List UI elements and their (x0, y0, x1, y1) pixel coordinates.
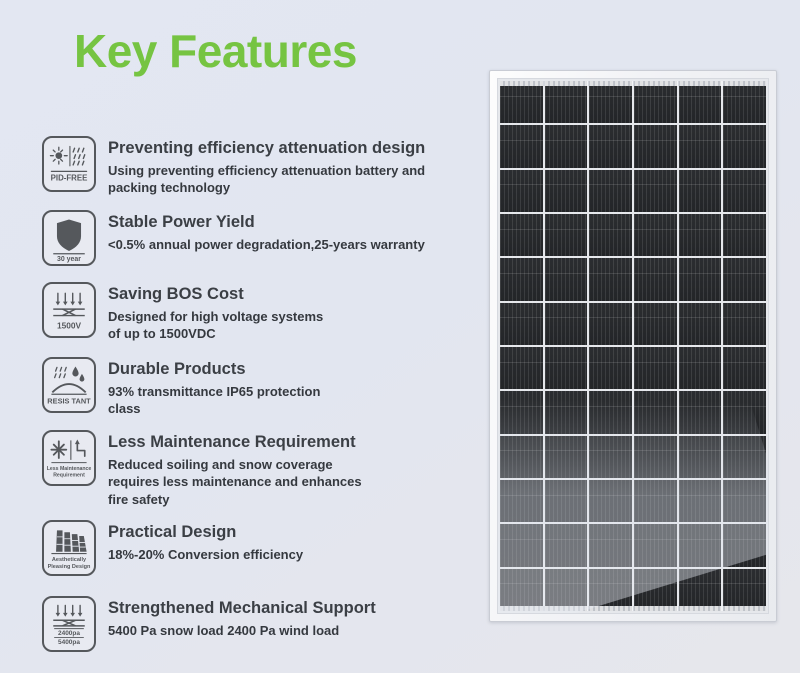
solar-cell (723, 303, 766, 345)
solar-cell (589, 81, 632, 123)
feature-description: 93% transmittance IP65 protection class (108, 383, 320, 418)
solar-cell (679, 480, 722, 522)
feature-title: Strengthened Mechanical Support (108, 598, 376, 619)
feature-description: <0.5% annual power degradation,25-years … (108, 236, 425, 253)
busbar-bottom (500, 606, 766, 611)
solar-cell (679, 170, 722, 212)
solar-cell (545, 569, 588, 611)
solar-cell (679, 569, 722, 611)
shield-30-year-glyph: 30 year (44, 212, 94, 264)
solar-cell (723, 436, 766, 478)
feature-item: Aesthetically Pleasing Design Practical … (42, 520, 462, 576)
icon-label: 30 year (57, 257, 81, 264)
panel-laminate (497, 78, 769, 614)
pid-free-sun-rain-glyph: PID-FREE (44, 138, 94, 190)
icon-label-line1: Aesthetically (52, 557, 87, 563)
feature-title: Stable Power Yield (108, 212, 425, 233)
shield-30-year-icon: 30 year (42, 210, 96, 266)
solar-cell (634, 436, 677, 478)
solar-cell (500, 170, 543, 212)
pid-free-sun-rain-icon: PID-FREE (42, 136, 96, 192)
feature-text: Practical Design 18%-20% Conversion effi… (96, 520, 303, 563)
solar-cell (589, 436, 632, 478)
solar-cell (589, 125, 632, 167)
feature-title: Saving BOS Cost (108, 284, 323, 305)
solar-cell (500, 391, 543, 433)
solar-cell (545, 170, 588, 212)
solar-cell (500, 258, 543, 300)
feature-text: Durable Products 93% transmittance IP65 … (96, 357, 320, 417)
solar-cell (723, 347, 766, 389)
solar-cell (723, 569, 766, 611)
solar-cell (723, 524, 766, 566)
feature-list: PID-FREE Preventing efficiency attenuati… (42, 136, 462, 652)
solar-cell (723, 125, 766, 167)
solar-cell (500, 303, 543, 345)
solar-cell-grid (498, 79, 768, 613)
solar-cell (589, 524, 632, 566)
mechanical-load-glyph: 2400pa 5400pa (44, 598, 94, 650)
solar-cell (679, 81, 722, 123)
solar-cell (634, 170, 677, 212)
aesthetic-panel-array-glyph: Aesthetically Pleasing Design (44, 522, 94, 574)
solar-cell (500, 569, 543, 611)
icon-label: PID-FREE (51, 174, 88, 183)
rain-resistant-dome-icon: RESIS TANT (42, 357, 96, 413)
solar-cell (500, 81, 543, 123)
solar-cell (723, 214, 766, 256)
feature-item: Less Maintenance Requirement Less Mainte… (42, 430, 462, 508)
feature-text: Stable Power Yield <0.5% annual power de… (96, 210, 425, 253)
solar-cell (723, 170, 766, 212)
busbar-top (500, 81, 766, 86)
solar-cell (545, 436, 588, 478)
icon-label-bottom: 5400pa (58, 639, 80, 646)
solar-cell (679, 391, 722, 433)
solar-cell (500, 480, 543, 522)
feature-description: 18%-20% Conversion efficiency (108, 546, 303, 563)
load-1500v-icon: 1500V (42, 282, 96, 338)
solar-cell (500, 524, 543, 566)
solar-cell (500, 347, 543, 389)
solar-cell (679, 258, 722, 300)
solar-cell (679, 125, 722, 167)
solar-cell (545, 391, 588, 433)
aesthetic-panel-array-icon: Aesthetically Pleasing Design (42, 520, 96, 576)
solar-cell (545, 125, 588, 167)
icon-label-line2: Requirement (53, 473, 85, 479)
solar-cell (545, 81, 588, 123)
icon-label-top: 2400pa (58, 630, 80, 637)
icon-label: RESIS TANT (47, 396, 91, 405)
solar-cell (634, 258, 677, 300)
feature-title: Durable Products (108, 359, 320, 380)
solar-cell (634, 480, 677, 522)
solar-cell (679, 214, 722, 256)
solar-cell (589, 480, 632, 522)
solar-cell (589, 347, 632, 389)
key-features-page: Key Features (0, 0, 800, 673)
solar-cell (679, 524, 722, 566)
solar-cell (723, 258, 766, 300)
solar-cell (500, 125, 543, 167)
feature-text: Strengthened Mechanical Support 5400 Pa … (96, 596, 376, 639)
icon-label: 1500V (57, 321, 82, 331)
solar-cell (589, 258, 632, 300)
solar-cell (545, 303, 588, 345)
feature-item: 1500V Saving BOS Cost Designed for high … (42, 282, 462, 342)
mechanical-load-icon: 2400pa 5400pa (42, 596, 96, 652)
icon-label-line1: Less Maintenance (47, 466, 92, 472)
panel-frame (489, 70, 777, 622)
feature-description: Using preventing efficiency attenuation … (108, 162, 425, 197)
solar-cell (634, 347, 677, 389)
solar-cell (500, 436, 543, 478)
solar-cell (679, 347, 722, 389)
solar-cell (545, 524, 588, 566)
solar-cell (589, 391, 632, 433)
snowflake-maintenance-icon: Less Maintenance Requirement (42, 430, 96, 486)
solar-cell (723, 391, 766, 433)
feature-title: Practical Design (108, 522, 303, 543)
feature-text: Saving BOS Cost Designed for high voltag… (96, 282, 323, 342)
page-title: Key Features (74, 26, 357, 77)
solar-cell (723, 81, 766, 123)
solar-cell (634, 569, 677, 611)
solar-cell (634, 524, 677, 566)
load-1500v-glyph: 1500V (44, 284, 94, 336)
solar-cell (634, 81, 677, 123)
solar-cell (589, 170, 632, 212)
solar-cell (634, 125, 677, 167)
feature-text: Less Maintenance Requirement Reduced soi… (96, 430, 362, 508)
feature-title: Preventing efficiency attenuation design (108, 138, 425, 159)
feature-item: PID-FREE Preventing efficiency attenuati… (42, 136, 462, 196)
solar-cell (723, 480, 766, 522)
solar-cell (634, 391, 677, 433)
solar-cell (589, 214, 632, 256)
solar-cell (679, 436, 722, 478)
solar-cell (545, 258, 588, 300)
feature-text: Preventing efficiency attenuation design… (96, 136, 425, 196)
feature-item: 2400pa 5400pa Strengthened Mechanical Su… (42, 596, 462, 652)
feature-item: RESIS TANT Durable Products 93% transmit… (42, 357, 462, 417)
feature-title: Less Maintenance Requirement (108, 432, 362, 453)
solar-panel-photo (489, 70, 777, 622)
rain-resistant-dome-glyph: RESIS TANT (44, 359, 94, 411)
solar-cell (634, 303, 677, 345)
feature-description: Reduced soiling and snow coverage requir… (108, 456, 362, 508)
solar-cell (545, 347, 588, 389)
feature-item: 30 year Stable Power Yield <0.5% annual … (42, 210, 462, 266)
solar-cell (545, 214, 588, 256)
feature-description: Designed for high voltage systems of up … (108, 308, 323, 343)
snowflake-maintenance-glyph: Less Maintenance Requirement (44, 432, 94, 484)
solar-cell (634, 214, 677, 256)
feature-description: 5400 Pa snow load 2400 Pa wind load (108, 622, 376, 639)
icon-label-line2: Pleasing Design (48, 564, 91, 570)
solar-cell (589, 303, 632, 345)
solar-cell (500, 214, 543, 256)
solar-cell (589, 569, 632, 611)
solar-cell (545, 480, 588, 522)
solar-cell (679, 303, 722, 345)
